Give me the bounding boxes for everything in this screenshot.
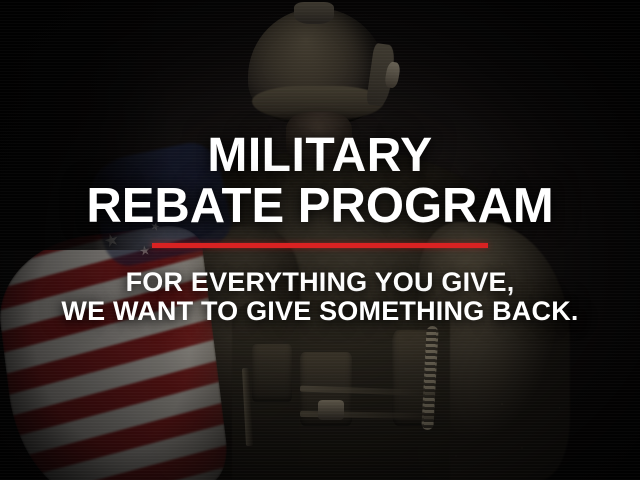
subheadline-line-1: FOR EVERYTHING YOU GIVE,	[61, 268, 578, 297]
subheadline: FOR EVERYTHING YOU GIVE, WE WANT TO GIVE…	[61, 268, 578, 326]
headline-line-2: REBATE PROGRAM	[86, 181, 553, 231]
banner-content: MILITARY REBATE PROGRAM FOR EVERYTHING Y…	[0, 0, 640, 480]
subheadline-line-2: WE WANT TO GIVE SOMETHING BACK.	[61, 297, 578, 326]
headline: MILITARY REBATE PROGRAM	[86, 131, 553, 231]
headline-line-1: MILITARY	[86, 131, 553, 181]
red-divider-rule	[152, 243, 488, 248]
military-rebate-banner: ★ ★ ★ MILITARY REBATE PROGRAM FOR EVERYT…	[0, 0, 640, 480]
